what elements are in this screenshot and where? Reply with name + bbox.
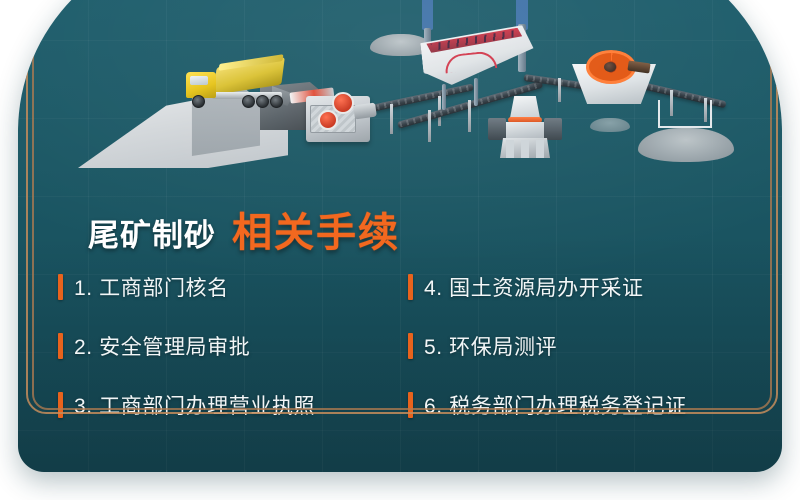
banner-root: 尾矿制砂 相关手续 1. 工商部门核名 4. 国土资源局办开采证 2. 安全管理… — [0, 0, 800, 500]
teal-card: 尾矿制砂 相关手续 1. 工商部门核名 4. 国土资源局办开采证 2. 安全管理… — [18, 0, 782, 472]
copper-border-inner — [32, 0, 772, 410]
